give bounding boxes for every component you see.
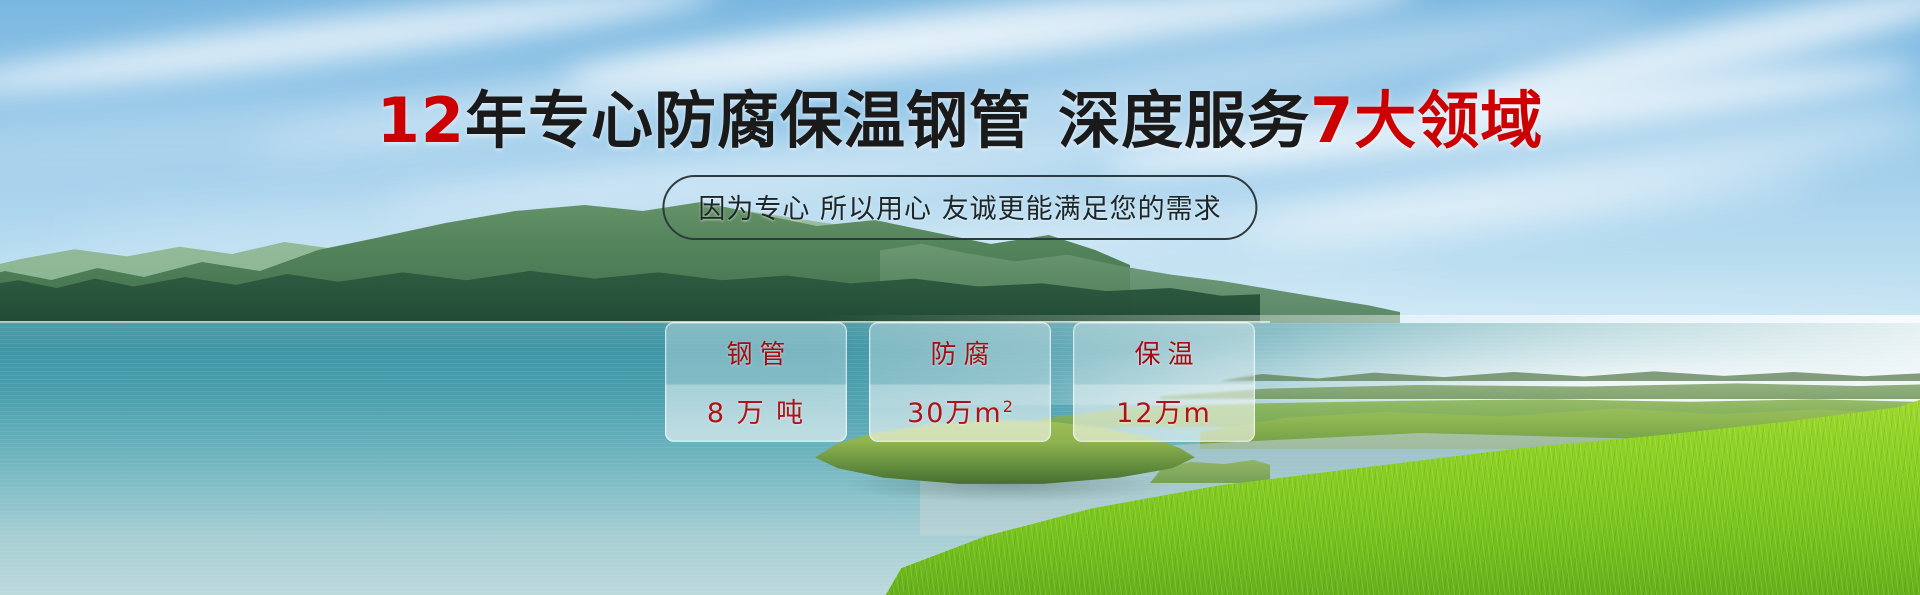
stat-label: 钢管 [719,334,792,371]
headline-service-text: 深度服务 [1058,84,1310,157]
stat-value: 30万m2 [907,391,1013,430]
stat-value-text: 12万m [1116,398,1212,429]
stat-value-superscript: 2 [1003,397,1013,416]
stat-label: 保温 [1127,334,1200,371]
stat-card-insulation[interactable]: 保温 12万m [1073,322,1255,442]
stat-card-anticorrosion[interactable]: 防腐 30万m2 [869,322,1051,442]
slogan-text: 因为专心 所以用心 友诚更能满足您的需求 [698,194,1221,225]
hero-banner: 12年专心防腐保温钢管深度服务7大领域 因为专心 所以用心 友诚更能满足您的需求… [0,0,1920,595]
stat-card-steel-pipe[interactable]: 钢管 8 万 吨 [665,322,847,442]
stat-value-text: 8 万 吨 [707,398,805,429]
headline-years-number: 12 [377,84,465,157]
headline-fields-number: 7 [1310,84,1354,157]
headline: 12年专心防腐保温钢管深度服务7大领域 [0,88,1920,153]
stat-value: 8 万 吨 [707,391,805,430]
stat-value: 12万m [1116,391,1212,430]
headline-fields-suffix: 大领域 [1354,84,1543,157]
headline-main-text: 年专心防腐保温钢管 [465,84,1032,157]
stat-value-text: 30万m [907,398,1003,429]
stat-label: 防腐 [923,334,996,371]
stats-card-group: 钢管 8 万 吨 防腐 30万m2 保温 12万m [665,322,1255,442]
slogan-pill: 因为专心 所以用心 友诚更能满足您的需求 [662,175,1257,240]
